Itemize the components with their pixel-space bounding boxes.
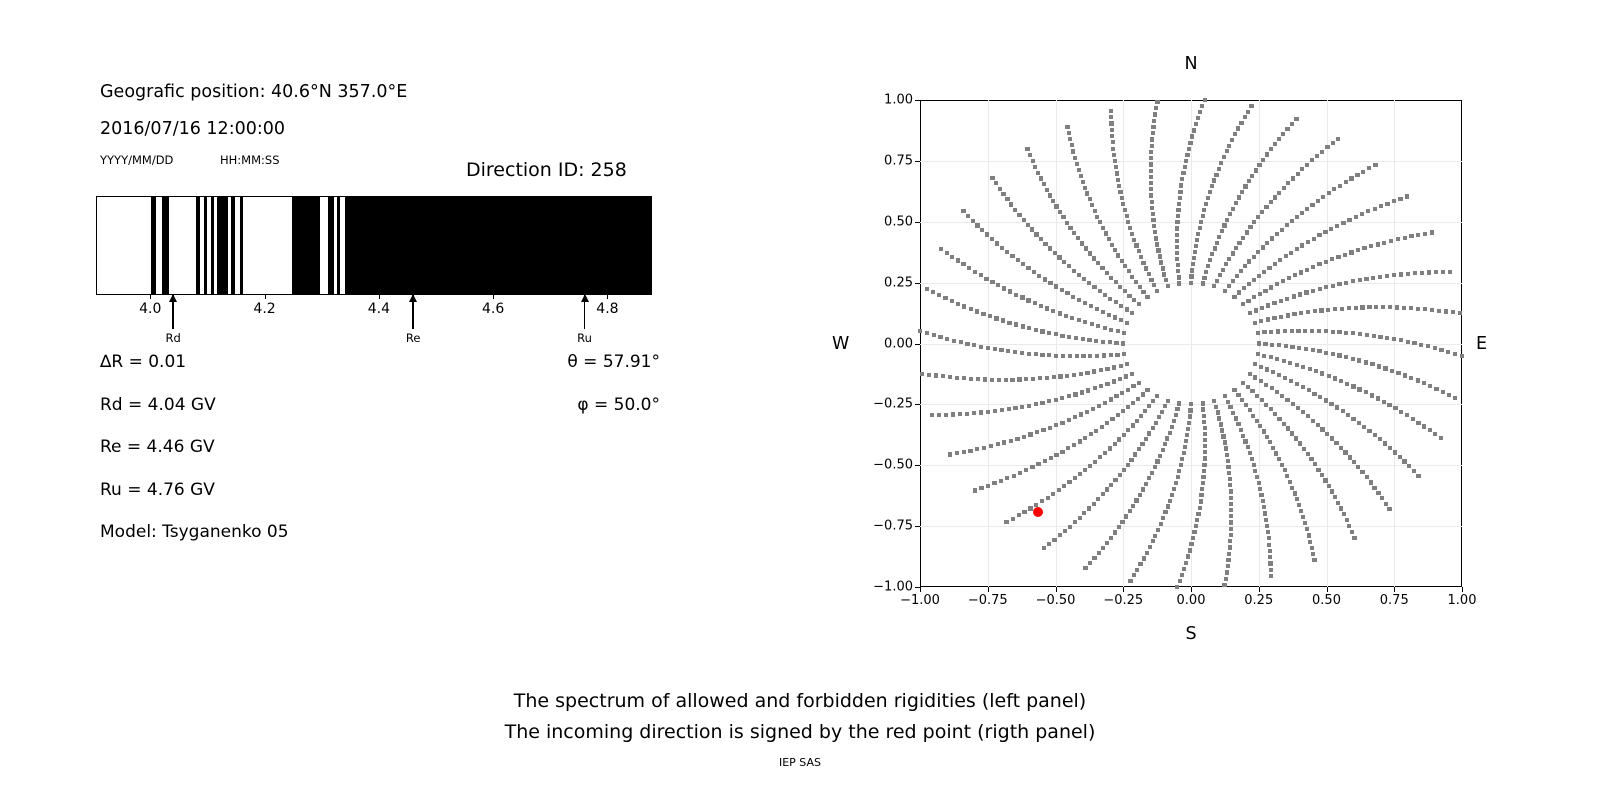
direction-point (1061, 215, 1065, 219)
direction-point (1036, 462, 1040, 466)
direction-point (1199, 493, 1203, 497)
direction-point (1229, 496, 1233, 500)
param-phi: φ = 50.0° (565, 395, 660, 415)
direction-point (1257, 481, 1261, 485)
direction-point (1053, 251, 1057, 255)
direction-point (1020, 405, 1024, 409)
direction-point (1041, 428, 1045, 432)
direction-point (982, 446, 986, 450)
direction-point (1071, 295, 1075, 299)
y-axis-tick (915, 465, 920, 466)
direction-point (1268, 561, 1272, 565)
direction-point (1303, 329, 1307, 333)
direction-point (1105, 382, 1109, 386)
direction-point (1175, 226, 1179, 230)
direction-point (1247, 259, 1251, 263)
direction-point (1317, 233, 1321, 237)
direction-point (1333, 495, 1337, 499)
direction-point (1399, 410, 1403, 414)
direction-point (1288, 480, 1292, 484)
direction-point (1126, 463, 1130, 467)
direction-point (1448, 270, 1452, 274)
direction-point (937, 413, 941, 417)
direction-point (1192, 256, 1196, 260)
direction-point (1058, 533, 1062, 537)
direction-point (1147, 404, 1151, 408)
direction-point (1234, 201, 1238, 205)
direction-point (1198, 506, 1202, 510)
direction-point (1339, 379, 1343, 383)
rigidity-marker-arrowhead (409, 294, 417, 302)
x-axis-tick (1056, 587, 1057, 592)
direction-point (1295, 382, 1299, 386)
direction-point (1183, 165, 1187, 169)
direction-point (1035, 430, 1039, 434)
direction-point (1337, 282, 1341, 286)
direction-point (1005, 250, 1009, 254)
direction-point (1387, 507, 1391, 511)
direction-point (1460, 354, 1464, 358)
direction-point (1376, 242, 1380, 246)
direction-point (1298, 441, 1302, 445)
direction-point (1265, 524, 1269, 528)
direction-point (1243, 115, 1247, 119)
direction-point (959, 340, 963, 344)
direction-point (1139, 255, 1143, 259)
direction-point (1120, 196, 1124, 200)
direction-point (1392, 199, 1396, 203)
direction-point (1358, 332, 1362, 336)
direction-point (1268, 549, 1272, 553)
direction-point (1202, 208, 1206, 212)
direction-point (1406, 272, 1410, 276)
direction-point (1356, 248, 1360, 252)
direction-point (1040, 499, 1044, 503)
direction-point (958, 412, 962, 416)
direction-point (1161, 266, 1165, 270)
direction-point (995, 241, 999, 245)
direction-point (1277, 373, 1281, 377)
direction-point (1407, 464, 1411, 468)
direction-point (1120, 520, 1124, 524)
direction-point (1176, 269, 1180, 273)
direction-point (1229, 527, 1233, 531)
direction-point (1137, 381, 1141, 385)
direction-point (1133, 452, 1137, 456)
rigidity-marker-label: Re (406, 331, 421, 345)
direction-point (1393, 406, 1397, 410)
direction-point (1163, 442, 1167, 446)
forbidden-band (345, 197, 652, 294)
direction-point (1113, 315, 1117, 319)
direction-point (1150, 206, 1154, 210)
direction-point (1113, 442, 1117, 446)
direction-point (1202, 463, 1206, 467)
direction-point (1062, 484, 1066, 488)
direction-point (1302, 447, 1306, 451)
direction-point (1175, 233, 1179, 237)
direction-point (1182, 451, 1186, 455)
direction-point (1301, 515, 1305, 519)
direction-point (1256, 331, 1260, 335)
direction-point (1194, 244, 1198, 248)
spectrum-bar (96, 196, 652, 295)
grid-line-horizontal (920, 526, 1462, 527)
direction-point (965, 412, 969, 416)
direction-point (1208, 258, 1212, 262)
direction-point (1228, 477, 1232, 481)
direction-point (1151, 218, 1155, 222)
direction-point (1103, 451, 1107, 455)
x-axis-tick (920, 587, 921, 592)
direction-point (1022, 218, 1026, 222)
direction-point (1277, 191, 1281, 195)
direction-point (1364, 390, 1368, 394)
direction-point (1067, 418, 1071, 422)
direction-point (1109, 328, 1113, 332)
direction-point (1331, 141, 1335, 145)
direction-point (1128, 509, 1132, 513)
direction-point (1267, 536, 1271, 540)
direction-point (1392, 337, 1396, 341)
direction-point (1054, 284, 1058, 288)
direction-point (1246, 445, 1250, 449)
direction-point (1123, 208, 1127, 212)
direction-point (1117, 437, 1121, 441)
spectrum-tick (493, 295, 494, 299)
forbidden-band (292, 197, 321, 294)
direction-point (1115, 353, 1119, 357)
direction-point (1082, 277, 1086, 281)
direction-point (1025, 147, 1029, 151)
direction-point (1190, 268, 1194, 272)
direction-point (1254, 168, 1258, 172)
direction-point (1009, 439, 1013, 443)
direction-point (1289, 379, 1293, 383)
direction-point (1283, 329, 1287, 333)
direction-point (1372, 486, 1376, 490)
direction-point (967, 266, 971, 270)
direction-point (1210, 184, 1214, 188)
direction-point (1072, 269, 1076, 273)
direction-point (1254, 308, 1258, 312)
direction-point (1132, 298, 1136, 302)
direction-point (1127, 269, 1131, 273)
direction-point (997, 378, 1001, 382)
direction-point (1237, 241, 1241, 245)
direction-point (1131, 384, 1135, 388)
direction-point (1305, 268, 1309, 272)
direction-point (1377, 364, 1381, 368)
direction-point (1228, 212, 1232, 216)
direction-point (1125, 362, 1129, 366)
direction-point (1343, 253, 1347, 257)
direction-point (1416, 378, 1420, 382)
y-axis-tick (915, 344, 920, 345)
direction-point (1224, 577, 1228, 581)
direction-point (1241, 302, 1245, 306)
direction-point (1226, 558, 1230, 562)
direction-point (1327, 191, 1331, 195)
direction-point (1147, 272, 1151, 276)
direction-point (1320, 150, 1324, 154)
direction-point (1175, 245, 1179, 249)
direction-point (1083, 320, 1087, 324)
direction-point (1141, 487, 1145, 491)
direction-point (1149, 156, 1153, 160)
direction-point (1247, 282, 1251, 286)
direction-point (1057, 255, 1061, 259)
direction-point (1148, 545, 1152, 549)
direction-point (1428, 384, 1432, 388)
direction-point (1229, 489, 1233, 493)
direction-point (1200, 487, 1204, 491)
direction-point (1083, 436, 1087, 440)
param-model: Model: Tsyganenko 05 (100, 522, 289, 542)
x-axis-tick (1327, 587, 1328, 592)
direction-point (1158, 254, 1162, 258)
direction-point (1065, 125, 1069, 129)
time-format-label: HH:MM:SS (220, 153, 280, 167)
direction-point (1228, 405, 1232, 409)
direction-point (1402, 306, 1406, 310)
direction-point (1065, 221, 1069, 225)
direction-point (1034, 402, 1038, 406)
direction-point (1346, 413, 1350, 417)
direction-point (1061, 354, 1065, 358)
direction-point (1305, 527, 1309, 531)
x-axis-tick (988, 587, 989, 592)
direction-point (1130, 232, 1134, 236)
direction-point (1236, 422, 1240, 426)
direction-point (1010, 378, 1014, 382)
forbidden-band (204, 197, 207, 294)
direction-point (1184, 159, 1188, 163)
direction-point (1073, 476, 1077, 480)
direction-point (1316, 199, 1320, 203)
direction-point (1396, 371, 1400, 375)
direction-point (1109, 121, 1113, 125)
direction-point (1291, 402, 1295, 406)
direction-point (1269, 285, 1273, 289)
direction-point (1428, 428, 1432, 432)
direction-point (1138, 562, 1142, 566)
direction-point (1258, 487, 1262, 491)
direction-point (1352, 536, 1356, 540)
direction-point (1277, 417, 1281, 421)
direction-point (941, 374, 945, 378)
direction-point (1161, 516, 1165, 520)
direction-point (1105, 421, 1109, 425)
direction-point (1378, 437, 1382, 441)
direction-point (1145, 388, 1149, 392)
direction-point (1385, 336, 1389, 340)
direction-point (1384, 502, 1388, 506)
direction-point (973, 270, 977, 274)
direction-point (1441, 270, 1445, 274)
direction-point (1088, 197, 1092, 201)
direction-point (1250, 457, 1254, 461)
direction-point (1314, 369, 1318, 373)
direction-point (1113, 159, 1117, 163)
direction-point (1344, 281, 1348, 285)
direction-point (1028, 153, 1032, 157)
direction-point (1122, 331, 1126, 335)
direction-point (1034, 328, 1038, 332)
direction-point (1339, 446, 1343, 450)
direction-point (938, 335, 942, 339)
direction-point (1255, 419, 1259, 423)
direction-point (1281, 279, 1285, 283)
direction-point (1177, 275, 1181, 279)
direction-point (1075, 354, 1079, 358)
direction-point (1078, 439, 1082, 443)
direction-point (1383, 441, 1387, 445)
forbidden-band (222, 197, 227, 294)
direction-point (1385, 274, 1389, 278)
direction-point (1203, 456, 1207, 460)
direction-point (937, 293, 941, 297)
direction-point (1087, 338, 1091, 342)
direction-point (1156, 248, 1160, 252)
direction-point (1107, 313, 1111, 317)
direction-point (1406, 340, 1410, 344)
direction-point (1098, 289, 1102, 293)
direction-point (1389, 239, 1393, 243)
direction-point (1149, 181, 1153, 185)
direction-point (1065, 291, 1069, 295)
y-axis-tick (915, 222, 920, 223)
direction-point (1348, 455, 1352, 459)
direction-point (961, 209, 965, 213)
direction-point (1131, 504, 1135, 508)
direction-point (1264, 518, 1268, 522)
spectrum-tick-label: 4.2 (253, 301, 275, 317)
direction-point (996, 283, 1000, 287)
direction-point (1111, 140, 1115, 144)
direction-point (1341, 221, 1345, 225)
direction-point (1350, 530, 1354, 534)
direction-point (1225, 453, 1229, 457)
direction-point (1017, 377, 1021, 381)
compass-label-east: E (1476, 334, 1487, 354)
direction-point (1185, 153, 1189, 157)
direction-point (1250, 174, 1254, 178)
direction-point (1196, 512, 1200, 516)
direction-point (1165, 436, 1169, 440)
direction-point (1101, 310, 1105, 314)
direction-point (1212, 399, 1216, 403)
direction-point (931, 290, 935, 294)
param-re: Re = 4.46 GV (100, 437, 289, 457)
direction-point (1262, 505, 1266, 509)
direction-point (1192, 128, 1196, 132)
direction-point (1181, 171, 1185, 175)
direction-point (1114, 165, 1118, 169)
direction-point (1217, 235, 1221, 239)
direction-point (1228, 483, 1232, 487)
direction-point (1068, 226, 1072, 230)
direction-point (1347, 524, 1351, 528)
direction-point (1323, 478, 1327, 482)
direction-point (1295, 497, 1299, 501)
direction-point (1245, 230, 1249, 234)
direction-point (1345, 518, 1349, 522)
direction-point (927, 373, 931, 377)
direction-point (1324, 398, 1328, 402)
direction-point (1266, 530, 1270, 534)
direction-point (1231, 251, 1235, 255)
rigidity-marker-arrowhead (169, 294, 177, 302)
direction-point (1072, 231, 1076, 235)
direction-point (1024, 468, 1028, 472)
direction-point (1215, 279, 1219, 283)
direction-point (1109, 397, 1113, 401)
direction-point (1075, 162, 1079, 166)
direction-point (1275, 282, 1279, 286)
direction-point (1021, 324, 1025, 328)
direction-point (1388, 305, 1392, 309)
y-axis-tick-label: 0.00 (884, 336, 913, 351)
direction-point (1226, 465, 1230, 469)
direction-point (1269, 574, 1273, 578)
direction-point (1351, 357, 1355, 361)
direction-point (1067, 480, 1071, 484)
direction-point (1378, 335, 1382, 339)
direction-point (1202, 414, 1206, 418)
direction-point (1219, 161, 1223, 165)
direction-point (1203, 432, 1207, 436)
direction-point (1124, 374, 1128, 378)
direction-point (1122, 433, 1126, 437)
direction-point (972, 343, 976, 347)
direction-point (1077, 273, 1081, 277)
direction-point (1178, 190, 1182, 194)
direction-point (1333, 307, 1337, 311)
direction-point (1203, 426, 1207, 430)
direction-point (1046, 496, 1050, 500)
direction-point (1015, 437, 1019, 441)
direction-point (1060, 288, 1064, 292)
direction-point (1413, 271, 1417, 275)
direction-point (1364, 277, 1368, 281)
direction-point (1175, 257, 1179, 261)
direction-point (1311, 289, 1315, 293)
direction-point (993, 347, 997, 351)
direction-point (1112, 153, 1116, 157)
direction-point (1093, 386, 1097, 390)
direction-point (1229, 508, 1233, 512)
direction-point (1170, 425, 1174, 429)
direction-point (1355, 173, 1359, 177)
direction-point (1054, 332, 1058, 336)
observation-datetime: 2016/07/16 12:00:00 (100, 119, 660, 139)
direction-point (1201, 481, 1205, 485)
direction-point (1334, 441, 1338, 445)
caption-line-2: The incoming direction is signed by the … (0, 717, 1600, 748)
direction-point (1325, 432, 1329, 436)
direction-point (1020, 351, 1024, 355)
direction-point (1224, 446, 1228, 450)
direction-point (1372, 334, 1376, 338)
direction-point (1179, 463, 1183, 467)
direction-point (1225, 149, 1229, 153)
direction-point (1151, 212, 1155, 216)
direction-point (1265, 367, 1269, 371)
direction-point (1373, 163, 1377, 167)
direction-point (1095, 215, 1099, 219)
direction-point (1376, 491, 1380, 495)
